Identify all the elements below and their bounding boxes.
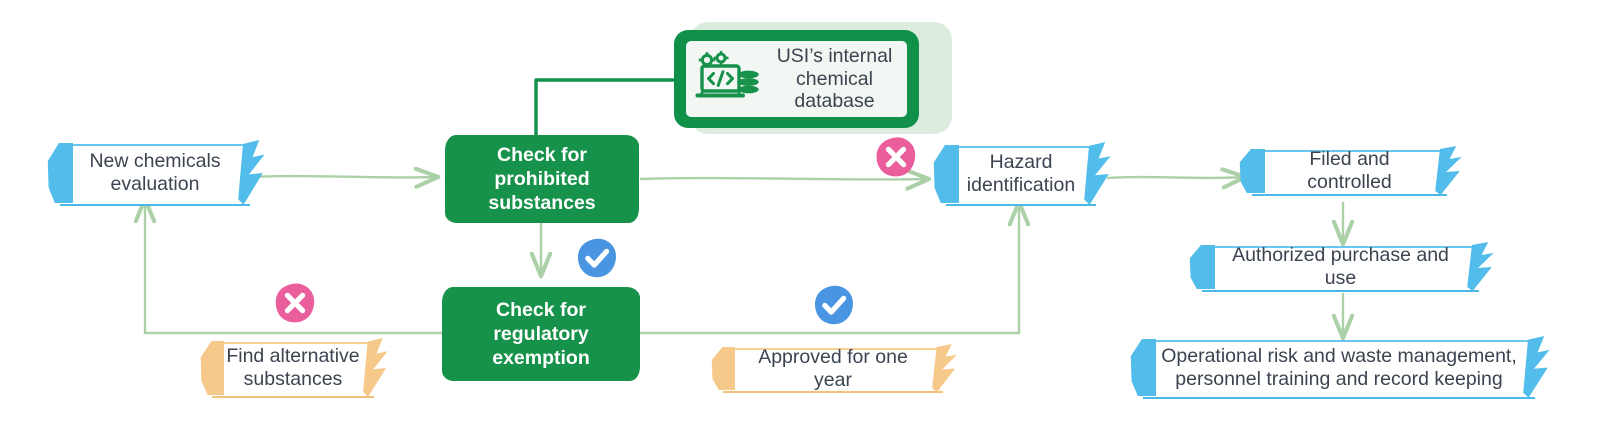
- label-line-3: substances: [488, 192, 595, 214]
- label-line-3: database: [794, 90, 874, 112]
- node-label: Hazard identification: [946, 146, 1096, 202]
- label-line-1: Find alternative: [226, 345, 359, 367]
- label-line-1: Check for: [497, 144, 587, 166]
- label-line-2: prohibited: [494, 168, 589, 190]
- label-line-1: USI’s internal: [777, 45, 893, 67]
- flowchart-canvas: New chemicals evaluation Check for prohi…: [0, 0, 1605, 432]
- label-line-2: evaluation: [111, 173, 200, 195]
- node-authorized-purchase-and-use[interactable]: Authorized purchase and use: [1202, 246, 1479, 288]
- node-new-chemicals-evaluation[interactable]: New chemicals evaluation: [60, 144, 250, 202]
- label-line-1: Hazard: [990, 151, 1053, 173]
- node-label: Approved for one year: [723, 348, 943, 389]
- label-line-1: Operational risk and waste management,: [1161, 345, 1517, 367]
- cross-circle-icon-alternative: [273, 281, 317, 325]
- node-approved-for-one-year[interactable]: Approved for one year: [723, 348, 943, 389]
- label-line-2: personnel training and record keeping: [1175, 368, 1502, 390]
- label-line-2: regulatory: [493, 323, 588, 345]
- node-label: Check for regulatory exemption: [443, 288, 639, 380]
- node-check-regulatory-exemption[interactable]: Check for regulatory exemption: [443, 288, 639, 380]
- node-label: Filed and controlled: [1252, 150, 1447, 192]
- node-label: Authorized purchase and use: [1202, 246, 1479, 288]
- node-label: Find alternative substances: [212, 342, 374, 394]
- node-hazard-identification[interactable]: Hazard identification: [946, 146, 1096, 202]
- edge-evaluation-to-prohibited: [253, 176, 437, 177]
- check-circle-icon-prohibited: [575, 236, 619, 280]
- check-circle-icon-approved: [812, 283, 856, 327]
- node-operational-risk-and-waste-management[interactable]: Operational risk and waste management, p…: [1143, 340, 1535, 395]
- database-card-face: USI’s internal chemical database: [686, 41, 907, 117]
- node-find-alternative-substances[interactable]: Find alternative substances: [212, 342, 374, 394]
- label-line-2: identification: [967, 174, 1075, 196]
- node-label: Check for prohibited substances: [446, 136, 638, 222]
- node-label: USI’s internal chemical database: [768, 45, 901, 113]
- label-line-2: chemical: [796, 68, 873, 90]
- node-usi-internal-chemical-database[interactable]: USI’s internal chemical database: [674, 30, 919, 128]
- node-label: New chemicals evaluation: [60, 144, 250, 202]
- label-line-2: substances: [244, 368, 343, 390]
- node-check-prohibited-substances[interactable]: Check for prohibited substances: [446, 136, 638, 222]
- label-line-3: exemption: [492, 347, 590, 369]
- database-code-gears-icon: [694, 49, 760, 110]
- label-line-1: New chemicals: [89, 150, 220, 172]
- label-line-1: Check for: [496, 299, 586, 321]
- node-filed-and-controlled[interactable]: Filed and controlled: [1252, 150, 1447, 192]
- node-label: Operational risk and waste management, p…: [1143, 340, 1535, 395]
- edge-hazard-to-filed: [1108, 177, 1244, 178]
- cross-circle-icon-hazard: [874, 135, 918, 179]
